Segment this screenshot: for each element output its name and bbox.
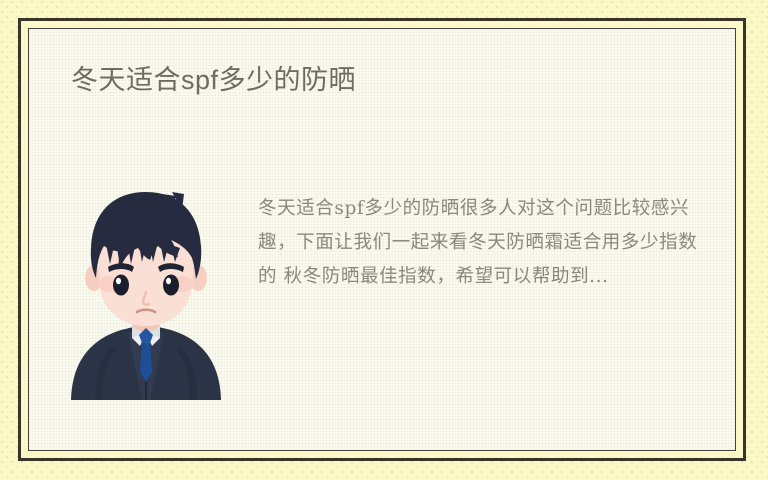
article-content-row: 冬天适合spf多少的防晒很多人对这个问题比较感兴趣，下面让我们一起来看冬天防晒霜… bbox=[29, 192, 735, 400]
avatar bbox=[66, 192, 226, 400]
article-card-canvas: 冬天适合spf多少的防晒 bbox=[0, 0, 768, 480]
outer-frame-border: 冬天适合spf多少的防晒 bbox=[18, 18, 746, 461]
page-title: 冬天适合spf多少的防晒 bbox=[71, 66, 356, 96]
avatar-illustration-icon bbox=[66, 192, 226, 400]
article-excerpt: 冬天适合spf多少的防晒很多人对这个问题比较感兴趣，下面让我们一起来看冬天防晒霜… bbox=[258, 192, 735, 294]
inner-frame-sheet: 冬天适合spf多少的防晒 bbox=[28, 28, 736, 451]
